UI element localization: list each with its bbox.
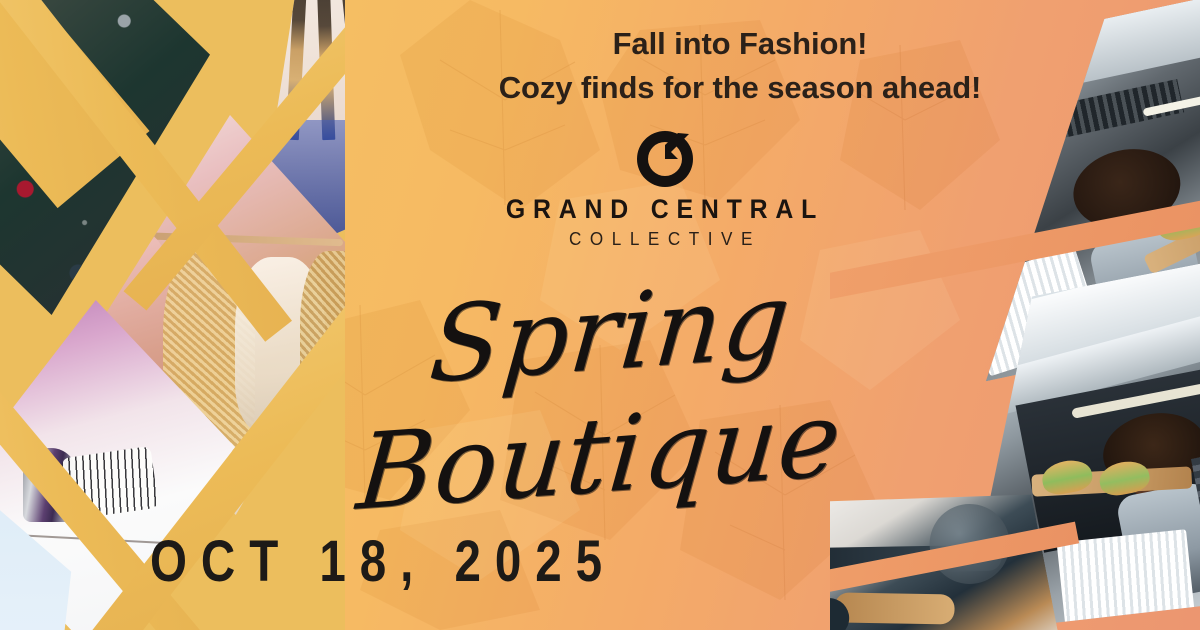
event-promo-banner: Fall into Fashion! Cozy finds for the se… (0, 0, 1200, 630)
headline: Fall into Fashion! Cozy finds for the se… (390, 22, 1090, 110)
g-monogram-icon (634, 128, 696, 190)
event-date: OCT 18, 2025 (150, 528, 616, 595)
headline-line-2: Cozy finds for the season ahead! (390, 66, 1090, 110)
brand-logo: GRAND CENTRAL COLLECTIVE (405, 128, 925, 250)
brand-subtitle: COLLECTIVE (418, 229, 912, 250)
brand-name: GRAND CENTRAL (426, 194, 904, 225)
headline-line-1: Fall into Fashion! (613, 26, 868, 61)
event-title: Spring Boutique (235, 246, 975, 542)
